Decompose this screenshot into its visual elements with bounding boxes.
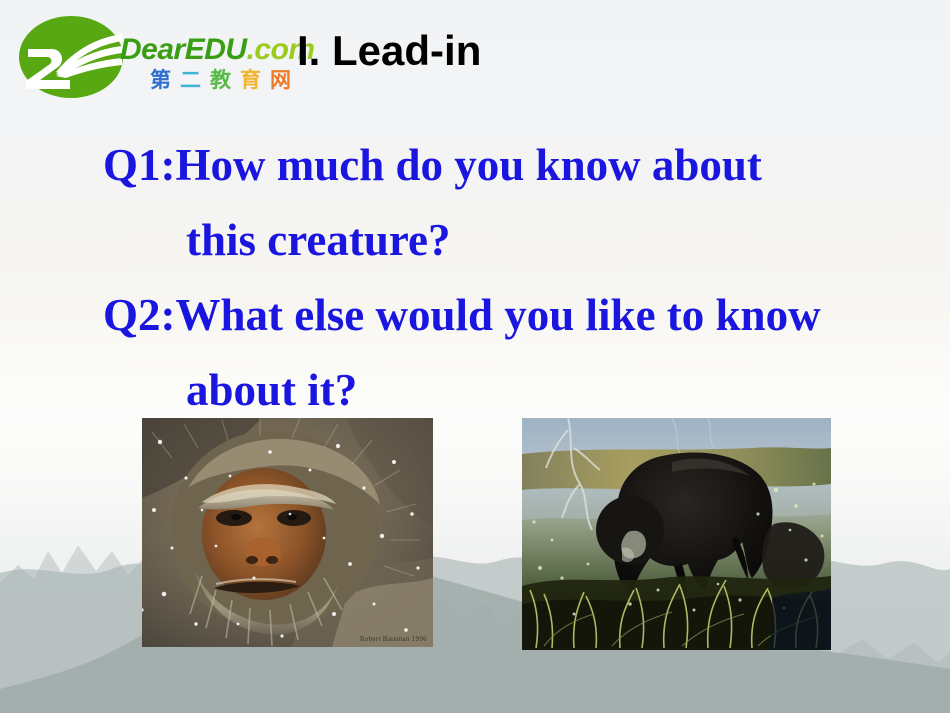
yeti-face-artwork <box>142 418 433 647</box>
question-line-1: Q1:How much do you know about <box>103 128 903 203</box>
page-title: I. Lead-in <box>297 30 481 72</box>
chinese-char-3: 教 <box>210 68 240 92</box>
question-line-4: about it? <box>103 353 903 428</box>
dark-ape-creature-photo[interactable] <box>522 418 831 650</box>
question-list: Q1:How much do you know about this creat… <box>103 128 903 428</box>
chinese-char-4: 育 <box>240 68 270 92</box>
deardu-chinese-subtitle: 第二教育网 <box>150 70 300 91</box>
question-line-2: this creature? <box>103 203 903 278</box>
deardu-circle-logo-icon <box>18 16 124 98</box>
wordmark-main-text: DearEDU <box>120 33 247 66</box>
artist-signature: Robert Bateman 1996 <box>360 635 427 643</box>
yeti-face-photo[interactable]: Robert Bateman 1996 <box>142 418 433 647</box>
dark-ape-creature-artwork <box>522 418 831 650</box>
chinese-char-2: 二 <box>180 68 210 92</box>
slide-canvas: DearEDU.com 第二教育网 I. Lead-in Q1:How much… <box>0 0 950 713</box>
chinese-char-5: 网 <box>270 68 300 92</box>
deardu-wordmark: DearEDU.com <box>120 35 315 65</box>
chinese-char-1: 第 <box>150 68 180 92</box>
slide-header: DearEDU.com 第二教育网 <box>14 8 304 104</box>
question-line-3: Q2:What else would you like to know <box>103 278 903 353</box>
deardu-logo[interactable]: DearEDU.com 第二教育网 <box>14 10 304 102</box>
